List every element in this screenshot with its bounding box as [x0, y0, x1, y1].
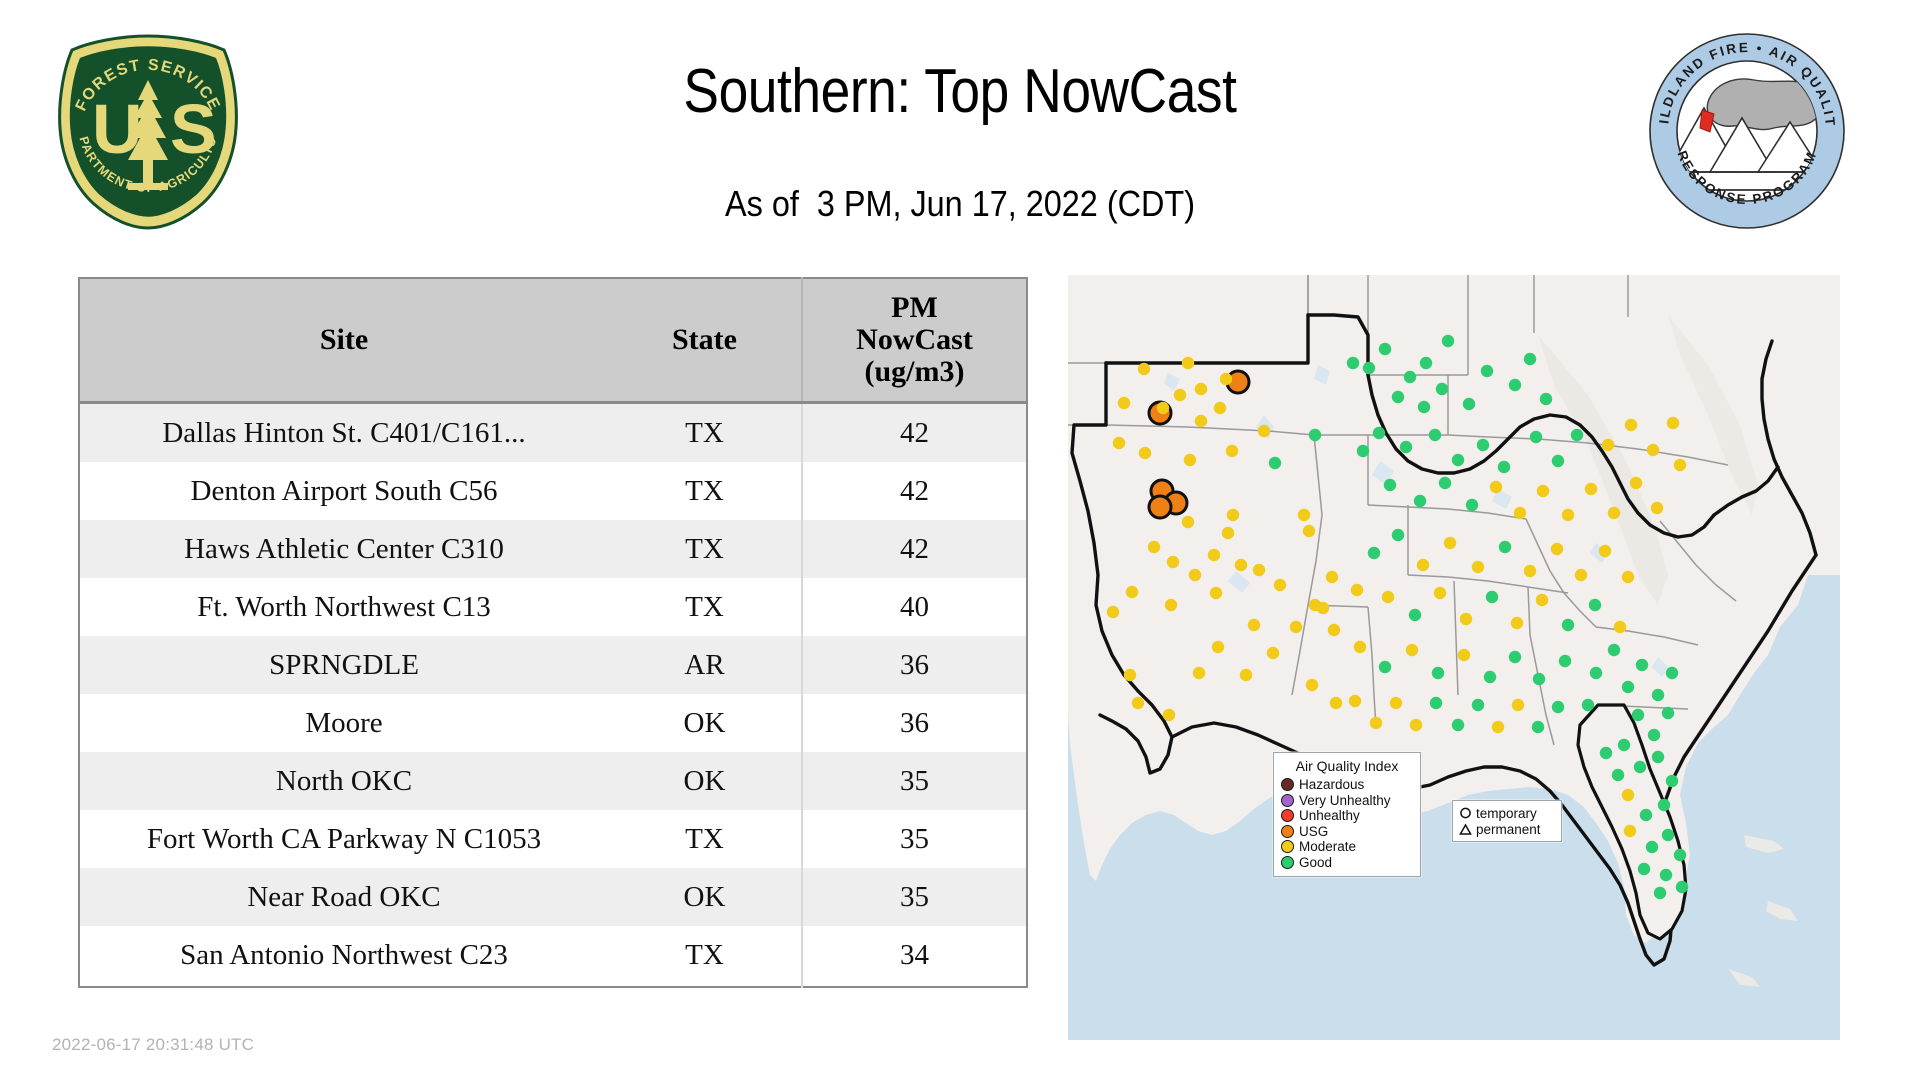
- cell-pm-nowcast: 35: [802, 868, 1027, 926]
- monitor-marker[interactable]: [1608, 507, 1620, 519]
- aqi-color-swatch: [1281, 825, 1294, 838]
- monitor-marker[interactable]: [1126, 586, 1138, 598]
- monitor-marker[interactable]: [1662, 829, 1674, 841]
- aqi-legend-label: Moderate: [1299, 840, 1356, 854]
- cell-site: Dallas Hinton St. C401/C161...: [79, 403, 608, 463]
- cell-pm-nowcast: 36: [802, 636, 1027, 694]
- aqi-legend-item: Unhealthy: [1281, 808, 1413, 824]
- aqi-legend-item: Good: [1281, 855, 1413, 871]
- monitor-marker[interactable]: [1132, 697, 1144, 709]
- cell-pm-nowcast: 42: [802, 520, 1027, 578]
- monitor-marker[interactable]: [1490, 481, 1502, 493]
- monitor-marker[interactable]: [1253, 564, 1265, 576]
- table-row: Haws Athletic Center C310TX42: [79, 520, 1027, 578]
- monitor-marker[interactable]: [1330, 697, 1342, 709]
- monitor-marker[interactable]: [1384, 479, 1396, 491]
- monitor-marker[interactable]: [1498, 461, 1510, 473]
- cell-state: OK: [608, 694, 802, 752]
- monitor-marker[interactable]: [1600, 747, 1612, 759]
- monitor-marker[interactable]: [1414, 495, 1426, 507]
- nowcast-table-container: Site State PM NowCast (ug/m3) Dallas Hin…: [78, 277, 998, 988]
- cell-state: TX: [608, 403, 802, 463]
- monitor-marker[interactable]: [1638, 863, 1650, 875]
- aqi-legend-label: Hazardous: [1299, 778, 1364, 792]
- monitor-marker[interactable]: [1235, 559, 1247, 571]
- monitor-marker[interactable]: [1370, 717, 1382, 729]
- monitor-marker[interactable]: [1138, 363, 1150, 375]
- monitor-marker[interactable]: [1624, 825, 1636, 837]
- monitor-marker[interactable]: [1622, 789, 1634, 801]
- monitor-marker[interactable]: [1674, 849, 1686, 861]
- monitor-marker[interactable]: [1589, 599, 1601, 611]
- monitor-marker[interactable]: [1466, 499, 1478, 511]
- monitor-marker[interactable]: [1118, 397, 1130, 409]
- monitor-marker[interactable]: [1524, 565, 1536, 577]
- aqi-color-swatch: [1281, 809, 1294, 822]
- monitor-marker[interactable]: [1540, 393, 1552, 405]
- cell-site: Near Road OKC: [79, 868, 608, 926]
- aqi-color-swatch: [1281, 794, 1294, 807]
- monitor-marker[interactable]: [1552, 701, 1564, 713]
- monitor-marker[interactable]: [1590, 667, 1602, 679]
- cell-state: TX: [608, 926, 802, 987]
- aqi-legend-label: Good: [1299, 856, 1332, 870]
- aqi-legend-item: USG: [1281, 824, 1413, 840]
- aqi-legend-label: Unhealthy: [1299, 809, 1360, 823]
- aqi-legend: Air Quality Index HazardousVery Unhealth…: [1273, 752, 1421, 877]
- monitor-marker[interactable]: [1373, 427, 1385, 439]
- generation-timestamp: 2022-06-17 20:31:48 UTC: [52, 1035, 254, 1055]
- monitor-marker[interactable]: [1326, 571, 1338, 583]
- monitor-marker[interactable]: [1306, 679, 1318, 691]
- monitor-marker[interactable]: [1328, 624, 1340, 636]
- monitor-marker[interactable]: [1666, 667, 1678, 679]
- monitor-marker[interactable]: [1379, 661, 1391, 673]
- monitor-marker[interactable]: [1439, 477, 1451, 489]
- cell-site: Ft. Worth Northwest C13: [79, 578, 608, 636]
- monitor-marker[interactable]: [1460, 613, 1472, 625]
- cell-state: TX: [608, 810, 802, 868]
- monitor-marker[interactable]: [1309, 599, 1321, 611]
- monitor-marker[interactable]: [1404, 371, 1416, 383]
- monitor-marker[interactable]: [1646, 841, 1658, 853]
- cell-site: Moore: [79, 694, 608, 752]
- monitor-marker[interactable]: [1486, 591, 1498, 603]
- monitor-marker[interactable]: [1477, 439, 1489, 451]
- cell-state: OK: [608, 752, 802, 810]
- monitor-marker[interactable]: [1290, 621, 1302, 633]
- monitor-marker[interactable]: [1214, 402, 1226, 414]
- monitor-marker[interactable]: [1458, 649, 1470, 661]
- monitor-marker[interactable]: [1298, 509, 1310, 521]
- monitor-marker[interactable]: [1552, 455, 1564, 467]
- monitor-marker[interactable]: [1674, 459, 1686, 471]
- monitor-marker[interactable]: [1442, 335, 1454, 347]
- monitor-marker[interactable]: [1666, 775, 1678, 787]
- monitor-marker[interactable]: [1634, 761, 1646, 773]
- monitor-marker[interactable]: [1551, 543, 1563, 555]
- monitor-marker[interactable]: [1676, 881, 1688, 893]
- monitor-marker[interactable]: [1269, 457, 1281, 469]
- table-row: SPRNGDLEAR36: [79, 636, 1027, 694]
- aqi-legend-item: Hazardous: [1281, 777, 1413, 793]
- monitor-marker[interactable]: [1511, 617, 1523, 629]
- monitor-marker[interactable]: [1406, 644, 1418, 656]
- aqi-color-swatch: [1281, 840, 1294, 853]
- monitor-marker[interactable]: [1212, 641, 1224, 653]
- monitor-marker[interactable]: [1509, 379, 1521, 391]
- aqi-legend-list: HazardousVery UnhealthyUnhealthyUSGModer…: [1281, 777, 1413, 870]
- monitor-marker[interactable]: [1536, 594, 1548, 606]
- monitor-marker[interactable]: [1509, 651, 1521, 663]
- monitor-marker[interactable]: [1392, 391, 1404, 403]
- monitor-marker[interactable]: [1463, 398, 1475, 410]
- monitor-marker[interactable]: [1532, 721, 1544, 733]
- monitor-marker[interactable]: [1418, 401, 1430, 413]
- monitor-marker[interactable]: [1651, 502, 1663, 514]
- monitor-marker[interactable]: [1274, 579, 1286, 591]
- table-row: Denton Airport South C56TX42: [79, 462, 1027, 520]
- monitor-marker[interactable]: [1167, 556, 1179, 568]
- monitor-marker[interactable]: [1622, 571, 1634, 583]
- monitor-marker[interactable]: [1195, 383, 1207, 395]
- monitor-marker[interactable]: [1432, 667, 1444, 679]
- cell-site: North OKC: [79, 752, 608, 810]
- monitor-marker[interactable]: [1409, 609, 1421, 621]
- monitor-marker[interactable]: [1379, 343, 1391, 355]
- monitor-marker[interactable]: [1349, 695, 1361, 707]
- monitor-marker[interactable]: [1492, 721, 1504, 733]
- cell-pm-nowcast: 40: [802, 578, 1027, 636]
- cell-pm-nowcast: 35: [802, 810, 1027, 868]
- monitor-marker[interactable]: [1512, 699, 1524, 711]
- monitor-marker[interactable]: [1417, 559, 1429, 571]
- marker-legend-permanent-label: permanent: [1476, 822, 1541, 837]
- monitor-marker[interactable]: [1652, 751, 1664, 763]
- air-quality-map[interactable]: Air Quality Index HazardousVery Unhealth…: [1068, 275, 1840, 1040]
- monitor-marker[interactable]: [1524, 353, 1536, 365]
- table-body: Dallas Hinton St. C401/C161...TX42Denton…: [79, 403, 1027, 988]
- monitor-marker[interactable]: [1267, 647, 1279, 659]
- cell-pm-nowcast: 35: [802, 752, 1027, 810]
- monitor-marker[interactable]: [1602, 439, 1614, 451]
- monitor-marker[interactable]: [1658, 799, 1670, 811]
- monitor-marker[interactable]: [1113, 437, 1125, 449]
- monitor-marker[interactable]: [1562, 509, 1574, 521]
- marker-legend-temporary: temporary: [1459, 805, 1555, 821]
- monitor-marker[interactable]: [1537, 485, 1549, 497]
- monitor-marker[interactable]: [1660, 869, 1672, 881]
- monitor-marker[interactable]: [1248, 619, 1260, 631]
- monitor-marker[interactable]: [1410, 719, 1422, 731]
- monitor-marker[interactable]: [1436, 383, 1448, 395]
- monitor-marker[interactable]: [1107, 606, 1119, 618]
- cell-state: OK: [608, 868, 802, 926]
- aqi-legend-item: Very Unhealthy: [1281, 793, 1413, 809]
- column-header-pm-line1: PM: [807, 292, 1022, 324]
- marker-type-legend: temporary permanent: [1452, 800, 1562, 842]
- monitor-marker[interactable]: [1429, 429, 1441, 441]
- monitor-marker[interactable]: [1368, 547, 1380, 559]
- cell-pm-nowcast: 42: [802, 462, 1027, 520]
- monitor-marker[interactable]: [1662, 707, 1674, 719]
- monitor-marker[interactable]: [1208, 549, 1220, 561]
- table-row: Fort Worth CA Parkway N C1053TX35: [79, 810, 1027, 868]
- table-header: Site State PM NowCast (ug/m3): [79, 278, 1027, 403]
- monitor-marker[interactable]: [1434, 587, 1446, 599]
- monitor-marker[interactable]: [1390, 697, 1402, 709]
- cell-site: SPRNGDLE: [79, 636, 608, 694]
- monitor-marker[interactable]: [1559, 655, 1571, 667]
- table-row: Near Road OKCOK35: [79, 868, 1027, 926]
- cell-state: TX: [608, 578, 802, 636]
- monitor-marker[interactable]: [1157, 402, 1169, 414]
- cell-state: TX: [608, 520, 802, 578]
- cell-pm-nowcast: 34: [802, 926, 1027, 987]
- cell-site: San Antonio Northwest C23: [79, 926, 608, 987]
- monitor-marker[interactable]: [1636, 659, 1648, 671]
- monitor-marker[interactable]: [1533, 673, 1545, 685]
- monitor-marker[interactable]: [1444, 537, 1456, 549]
- monitor-marker[interactable]: [1530, 431, 1542, 443]
- monitor-marker[interactable]: [1182, 516, 1194, 528]
- monitor-marker[interactable]: [1652, 689, 1664, 701]
- monitor-marker[interactable]: [1599, 545, 1611, 557]
- table-row: Ft. Worth Northwest C13TX40: [79, 578, 1027, 636]
- column-header-pm-nowcast: PM NowCast (ug/m3): [802, 278, 1027, 403]
- page-title: Southern: Top NowCast: [134, 56, 1785, 127]
- monitor-marker[interactable]: [1608, 644, 1620, 656]
- column-header-pm-line2: NowCast: [807, 324, 1022, 356]
- monitor-marker[interactable]: [1562, 619, 1574, 631]
- monitor-marker[interactable]: [1654, 887, 1666, 899]
- monitor-marker[interactable]: [1481, 365, 1493, 377]
- monitor-marker[interactable]: [1354, 641, 1366, 653]
- monitor-marker[interactable]: [1582, 699, 1594, 711]
- monitor-marker[interactable]: [1240, 669, 1252, 681]
- monitor-marker[interactable]: [1227, 509, 1239, 521]
- monitor-marker[interactable]: [1622, 681, 1634, 693]
- monitor-marker[interactable]: [1182, 357, 1194, 369]
- monitor-marker[interactable]: [1614, 621, 1626, 633]
- cell-site: Denton Airport South C56: [79, 462, 608, 520]
- monitor-marker[interactable]: [1667, 417, 1679, 429]
- aqi-color-swatch: [1281, 778, 1294, 791]
- monitor-marker[interactable]: [1357, 445, 1369, 457]
- aqi-legend-label: Very Unhealthy: [1299, 794, 1391, 808]
- monitor-marker[interactable]: [1139, 447, 1151, 459]
- column-header-site: Site: [79, 278, 608, 403]
- monitor-marker[interactable]: [1351, 584, 1363, 596]
- marker-legend-permanent: permanent: [1459, 821, 1555, 837]
- monitor-marker[interactable]: [1647, 444, 1659, 456]
- monitor-marker[interactable]: [1165, 599, 1177, 611]
- table-row: North OKCOK35: [79, 752, 1027, 810]
- monitor-marker[interactable]: [1184, 454, 1196, 466]
- monitor-marker[interactable]: [1575, 569, 1587, 581]
- monitor-marker[interactable]: [1347, 357, 1359, 369]
- monitor-marker[interactable]: [1430, 697, 1442, 709]
- monitor-marker[interactable]: [1193, 667, 1205, 679]
- monitor-marker[interactable]: [1472, 561, 1484, 573]
- monitor-marker[interactable]: [1571, 429, 1583, 441]
- circle-icon: [1459, 807, 1472, 820]
- monitor-marker[interactable]: [1648, 729, 1660, 741]
- aqi-legend-title: Air Quality Index: [1281, 758, 1413, 774]
- page-subtitle: As of 3 PM, Jun 17, 2022 (CDT): [96, 183, 1824, 225]
- monitor-marker[interactable]: [1303, 525, 1315, 537]
- monitor-marker[interactable]: [1149, 496, 1171, 518]
- monitor-marker[interactable]: [1382, 591, 1394, 603]
- marker-legend-temporary-label: temporary: [1476, 806, 1537, 821]
- nowcast-table: Site State PM NowCast (ug/m3) Dallas Hin…: [78, 277, 1028, 988]
- monitor-marker[interactable]: [1632, 709, 1644, 721]
- monitor-marker[interactable]: [1630, 477, 1642, 489]
- triangle-icon: [1459, 823, 1472, 836]
- monitor-marker[interactable]: [1585, 483, 1597, 495]
- cell-pm-nowcast: 42: [802, 403, 1027, 463]
- monitor-marker[interactable]: [1392, 529, 1404, 541]
- monitor-marker[interactable]: [1220, 373, 1232, 385]
- monitor-marker[interactable]: [1400, 441, 1412, 453]
- monitor-marker[interactable]: [1618, 739, 1630, 751]
- monitor-marker[interactable]: [1452, 454, 1464, 466]
- monitor-marker[interactable]: [1514, 507, 1526, 519]
- monitor-marker[interactable]: [1499, 541, 1511, 553]
- monitor-marker[interactable]: [1452, 719, 1464, 731]
- column-header-pm-line3: (ug/m3): [807, 356, 1022, 388]
- monitor-marker[interactable]: [1309, 429, 1321, 441]
- table-row: MooreOK36: [79, 694, 1027, 752]
- monitor-marker[interactable]: [1258, 425, 1270, 437]
- aqi-color-swatch: [1281, 856, 1294, 869]
- monitor-marker[interactable]: [1124, 669, 1136, 681]
- aqi-legend-item: Moderate: [1281, 839, 1413, 855]
- monitor-marker[interactable]: [1612, 769, 1624, 781]
- monitor-marker[interactable]: [1148, 541, 1160, 553]
- aqi-legend-label: USG: [1299, 825, 1328, 839]
- monitor-marker[interactable]: [1189, 569, 1201, 581]
- monitor-marker[interactable]: [1174, 389, 1186, 401]
- monitor-marker[interactable]: [1222, 527, 1234, 539]
- monitor-marker[interactable]: [1226, 445, 1238, 457]
- table-row: Dallas Hinton St. C401/C161...TX42: [79, 403, 1027, 463]
- cell-state: TX: [608, 462, 802, 520]
- monitor-marker[interactable]: [1363, 362, 1375, 374]
- monitor-marker[interactable]: [1640, 809, 1652, 821]
- monitor-marker[interactable]: [1484, 671, 1496, 683]
- cell-site: Fort Worth CA Parkway N C1053: [79, 810, 608, 868]
- monitor-marker[interactable]: [1195, 415, 1207, 427]
- monitor-marker[interactable]: [1472, 699, 1484, 711]
- cell-pm-nowcast: 36: [802, 694, 1027, 752]
- column-header-state: State: [608, 278, 802, 403]
- cell-state: AR: [608, 636, 802, 694]
- monitor-marker[interactable]: [1625, 419, 1637, 431]
- cell-site: Haws Athletic Center C310: [79, 520, 608, 578]
- table-row: San Antonio Northwest C23TX34: [79, 926, 1027, 987]
- monitor-marker[interactable]: [1420, 357, 1432, 369]
- monitor-marker[interactable]: [1163, 709, 1175, 721]
- monitor-marker[interactable]: [1210, 587, 1222, 599]
